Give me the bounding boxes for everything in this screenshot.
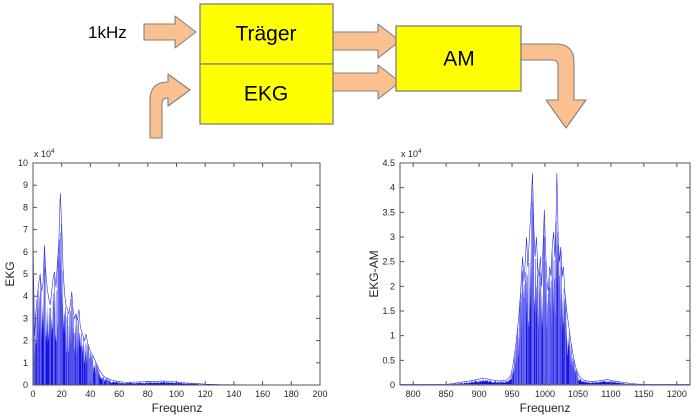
svg-text:200: 200	[312, 389, 327, 399]
svg-text:140: 140	[226, 389, 241, 399]
input-arrow-1khz-icon	[144, 16, 196, 48]
svg-text:60: 60	[114, 389, 124, 399]
svg-text:40: 40	[85, 389, 95, 399]
svg-text:1.5: 1.5	[382, 306, 395, 316]
svg-text:0: 0	[23, 380, 28, 390]
block-diagram: Träger EKG AM 1kHz	[0, 0, 697, 140]
x-tick-labels: 020406080100120140160180200	[30, 389, 327, 399]
svg-text:0.5: 0.5	[382, 355, 395, 365]
arrow-ekg-to-am-icon	[326, 65, 400, 99]
svg-text:1150: 1150	[634, 389, 653, 399]
y-exponent-label: x 104	[401, 148, 422, 159]
y-tick-labels: 00.511.522.533.544.5	[382, 158, 395, 390]
svg-text:6: 6	[23, 247, 28, 257]
arrow-am-output-icon	[516, 44, 586, 128]
block-ekg-label: EKG	[244, 83, 288, 106]
svg-text:20: 20	[57, 389, 67, 399]
svg-text:5: 5	[23, 269, 28, 279]
svg-text:2: 2	[23, 336, 28, 346]
svg-text:4: 4	[390, 183, 395, 193]
block-traeger-label: Träger	[235, 23, 296, 46]
chart-ekg-am: x 104 80085090095010001050110011501200 0…	[350, 140, 697, 420]
block-am-label: AM	[443, 48, 475, 71]
svg-text:100: 100	[169, 389, 184, 399]
svg-text:2: 2	[390, 281, 395, 291]
svg-text:8: 8	[23, 202, 28, 212]
svg-text:900: 900	[472, 389, 487, 399]
svg-text:1100: 1100	[601, 389, 620, 399]
svg-text:80: 80	[143, 389, 153, 399]
x-axis-title: Frequenz	[152, 401, 203, 415]
svg-text:1: 1	[390, 331, 395, 341]
y-exponent-label: x 104	[34, 148, 55, 159]
svg-text:9: 9	[23, 180, 28, 190]
svg-text:850: 850	[439, 389, 454, 399]
arrow-traeger-to-am-icon	[326, 24, 400, 58]
svg-text:1: 1	[23, 358, 28, 368]
svg-text:1050: 1050	[568, 389, 588, 399]
svg-text:1000: 1000	[535, 389, 555, 399]
svg-text:2.5: 2.5	[382, 257, 395, 267]
svg-text:3.5: 3.5	[382, 207, 395, 217]
svg-text:7: 7	[23, 225, 28, 235]
svg-text:0: 0	[30, 389, 35, 399]
svg-text:4: 4	[23, 291, 28, 301]
svg-text:950: 950	[505, 389, 520, 399]
svg-text:3: 3	[23, 313, 28, 323]
svg-text:4.5: 4.5	[382, 158, 395, 168]
svg-text:1200: 1200	[667, 389, 687, 399]
svg-text:180: 180	[284, 389, 299, 399]
svg-text:800: 800	[406, 389, 421, 399]
chart-ekg: x 104 020406080100120140160180200 012345…	[0, 140, 350, 420]
x-tick-labels: 80085090095010001050110011501200	[406, 389, 687, 399]
input-label-1khz: 1kHz	[88, 23, 127, 42]
arrow-ekg-input-icon	[150, 74, 190, 138]
y-tick-labels: 012345678910	[18, 158, 28, 390]
svg-text:0: 0	[390, 380, 395, 390]
y-axis-title: EKG	[3, 261, 17, 286]
svg-text:160: 160	[255, 389, 270, 399]
y-axis-title: EKG-AM	[367, 250, 381, 297]
x-axis-title: Frequenz	[520, 401, 571, 415]
svg-text:3: 3	[390, 232, 395, 242]
svg-text:120: 120	[198, 389, 213, 399]
svg-text:10: 10	[18, 158, 28, 168]
